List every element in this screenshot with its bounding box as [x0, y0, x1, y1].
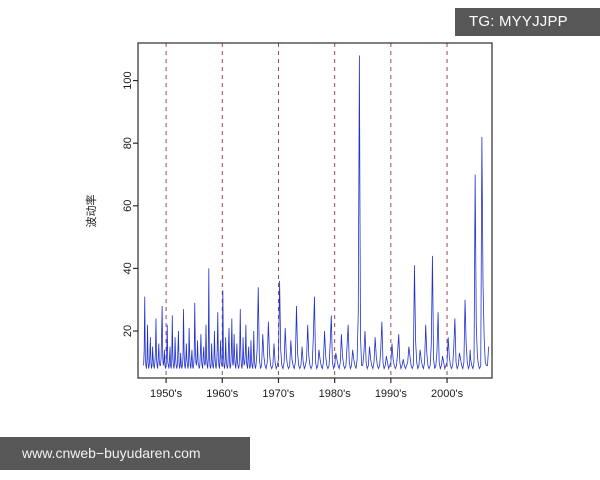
y-axis-title: 波动率	[84, 195, 98, 228]
screenshot-canvas: 20406080100 1950's1960's1970's1980's1990…	[0, 0, 600, 480]
y-tick-label-20: 20	[122, 325, 134, 337]
chart-figure: 20406080100 1950's1960's1970's1980's1990…	[0, 0, 600, 480]
x-axis: 1950's1960's1970's1980's1990's2000's	[150, 378, 464, 400]
y-tick-label-100: 100	[122, 71, 134, 89]
y-tick-label-40: 40	[122, 262, 134, 274]
x-tick-label-1980: 1980's	[319, 388, 352, 400]
watermark-url: www.cnweb−buyudaren.com	[0, 437, 250, 470]
y-axis: 20406080100	[122, 71, 138, 337]
y-tick-label-60: 60	[122, 200, 134, 212]
x-tick-label-1950: 1950's	[150, 388, 183, 400]
tag-badge: TG: MYYJJPP	[455, 8, 600, 36]
y-tick-label-80: 80	[122, 137, 134, 149]
x-tick-label-1970: 1970's	[262, 388, 295, 400]
x-tick-label-2000: 2000's	[431, 388, 464, 400]
x-tick-label-1960: 1960's	[206, 388, 239, 400]
x-tick-label-1990: 1990's	[375, 388, 408, 400]
chart-svg: 20406080100 1950's1960's1970's1980's1990…	[0, 0, 600, 480]
